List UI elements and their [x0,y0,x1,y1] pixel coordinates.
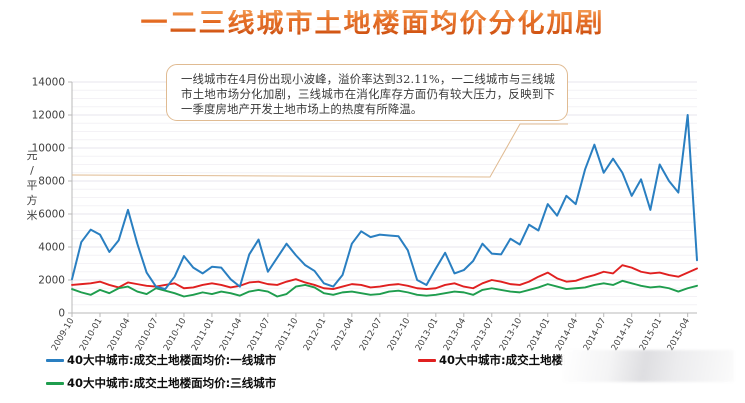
line-chart: 020004000600080001000012000140002009-102… [0,0,745,403]
y-axis-title-c1: / [24,163,40,178]
legend-label-tier2: 40大中城市:成交土地楼面 [439,352,575,368]
svg-text:2010-10: 2010-10 [162,317,189,353]
svg-text:2011-04: 2011-04 [218,317,245,353]
legend-item-tier3[interactable]: 40大中城市:成交土地楼面均价:三线城市 [46,375,276,391]
svg-text:2012-04: 2012-04 [330,317,357,353]
legend-label-tier3: 40大中城市:成交土地楼面均价:三线城市 [67,375,276,391]
svg-text:14000: 14000 [32,77,65,89]
legend-swatch-tier3 [46,382,64,385]
svg-text:2013-01: 2013-01 [414,317,441,353]
svg-text:2009-10: 2009-10 [50,317,77,353]
svg-text:2011-10: 2011-10 [274,317,301,353]
svg-text:2010-01: 2010-01 [78,317,105,353]
svg-text:6000: 6000 [38,209,65,221]
legend-swatch-tier2 [418,359,436,362]
svg-text:2012-07: 2012-07 [358,317,385,353]
svg-text:4000: 4000 [38,242,65,254]
svg-text:2013-07: 2013-07 [470,317,497,353]
svg-text:2012-10: 2012-10 [386,317,413,353]
legend-swatch-tier1 [46,359,64,362]
annotation-callout: 一线城市在4月份出现小波峰，溢价率达到32.11%，一二线城市与三线城市土地市场… [166,64,568,121]
svg-text:0: 0 [58,308,65,320]
svg-text:8000: 8000 [38,176,65,188]
y-axis-title: 元 / 平 方 米 [24,148,40,223]
svg-text:2010-04: 2010-04 [106,317,133,353]
y-axis-title-c0: 元 [24,148,40,163]
legend-item-tier1[interactable]: 40大中城市:成交土地楼面均价:一线城市 [46,352,276,368]
svg-text:2011-01: 2011-01 [190,317,217,353]
chart-screenshot: 一二三线城市土地楼面均价分化加剧 一二三线城市土地楼面均价分化加剧 020004… [0,0,745,403]
y-axis-title-c3: 方 [24,193,40,208]
svg-text:2010-07: 2010-07 [134,317,161,353]
svg-text:2013-04: 2013-04 [442,317,469,353]
svg-text:2011-07: 2011-07 [246,317,273,353]
svg-text:2012-01: 2012-01 [302,317,329,353]
legend-item-tier2[interactable]: 40大中城市:成交土地楼面 [418,352,575,368]
svg-text:2014-07: 2014-07 [582,317,609,353]
svg-text:2013-10: 2013-10 [498,317,525,353]
svg-text:2000: 2000 [38,275,65,287]
svg-text:2014-04: 2014-04 [554,317,581,353]
svg-text:2014-01: 2014-01 [526,317,553,353]
annotation-callout-text: 一线城市在4月份出现小波峰，溢价率达到32.11%，一二线城市与三线城市土地市场… [181,72,555,118]
svg-text:2015-01: 2015-01 [638,317,665,353]
legend-redaction-overlay [562,350,734,382]
svg-text:2015-04: 2015-04 [666,317,693,353]
y-axis-title-c2: 平 [24,178,40,193]
svg-text:12000: 12000 [32,110,65,122]
y-axis-title-c4: 米 [24,208,40,223]
legend-label-tier1: 40大中城市:成交土地楼面均价:一线城市 [67,352,276,368]
svg-text:2014-10: 2014-10 [610,317,637,353]
